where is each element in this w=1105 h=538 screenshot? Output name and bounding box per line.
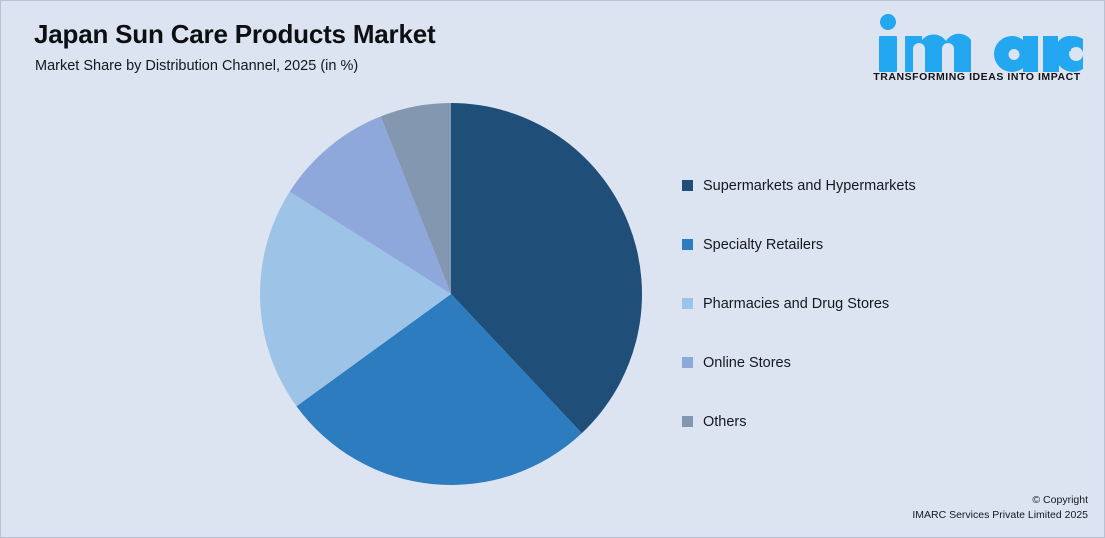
- legend-item-label: Pharmacies and Drug Stores: [703, 296, 889, 312]
- legend-item-label: Supermarkets and Hypermarkets: [703, 178, 916, 194]
- legend-item-label: Specialty Retailers: [703, 237, 823, 253]
- legend-item[interactable]: Pharmacies and Drug Stores: [682, 274, 1072, 333]
- pie-chart: [259, 102, 643, 486]
- legend-item[interactable]: Supermarkets and Hypermarkets: [682, 156, 1072, 215]
- legend-item[interactable]: Others: [682, 392, 1072, 451]
- legend-swatch-icon: [682, 239, 693, 250]
- legend-swatch-icon: [682, 298, 693, 309]
- page-title: Japan Sun Care Products Market: [34, 19, 435, 50]
- copyright-line-2: IMARC Services Private Limited 2025: [912, 508, 1088, 523]
- legend-item-label: Others: [703, 414, 747, 430]
- legend-swatch-icon: [682, 416, 693, 427]
- copyright-footer: © Copyright IMARC Services Private Limit…: [912, 493, 1088, 523]
- imarc-wordmark-icon: [866, 13, 1088, 75]
- legend-item[interactable]: Specialty Retailers: [682, 215, 1072, 274]
- copyright-line-1: © Copyright: [912, 493, 1088, 508]
- chart-canvas: Japan Sun Care Products Market Market Sh…: [0, 0, 1105, 538]
- legend-swatch-icon: [682, 357, 693, 368]
- imarc-logo: TRANSFORMING IDEAS INTO IMPACT: [866, 13, 1088, 97]
- page-subtitle: Market Share by Distribution Channel, 20…: [35, 58, 358, 74]
- legend-item-label: Online Stores: [703, 355, 791, 371]
- pie-chart-svg: [259, 102, 643, 486]
- legend-swatch-icon: [682, 180, 693, 191]
- chart-legend: Supermarkets and HypermarketsSpecialty R…: [682, 156, 1072, 451]
- legend-item[interactable]: Online Stores: [682, 333, 1072, 392]
